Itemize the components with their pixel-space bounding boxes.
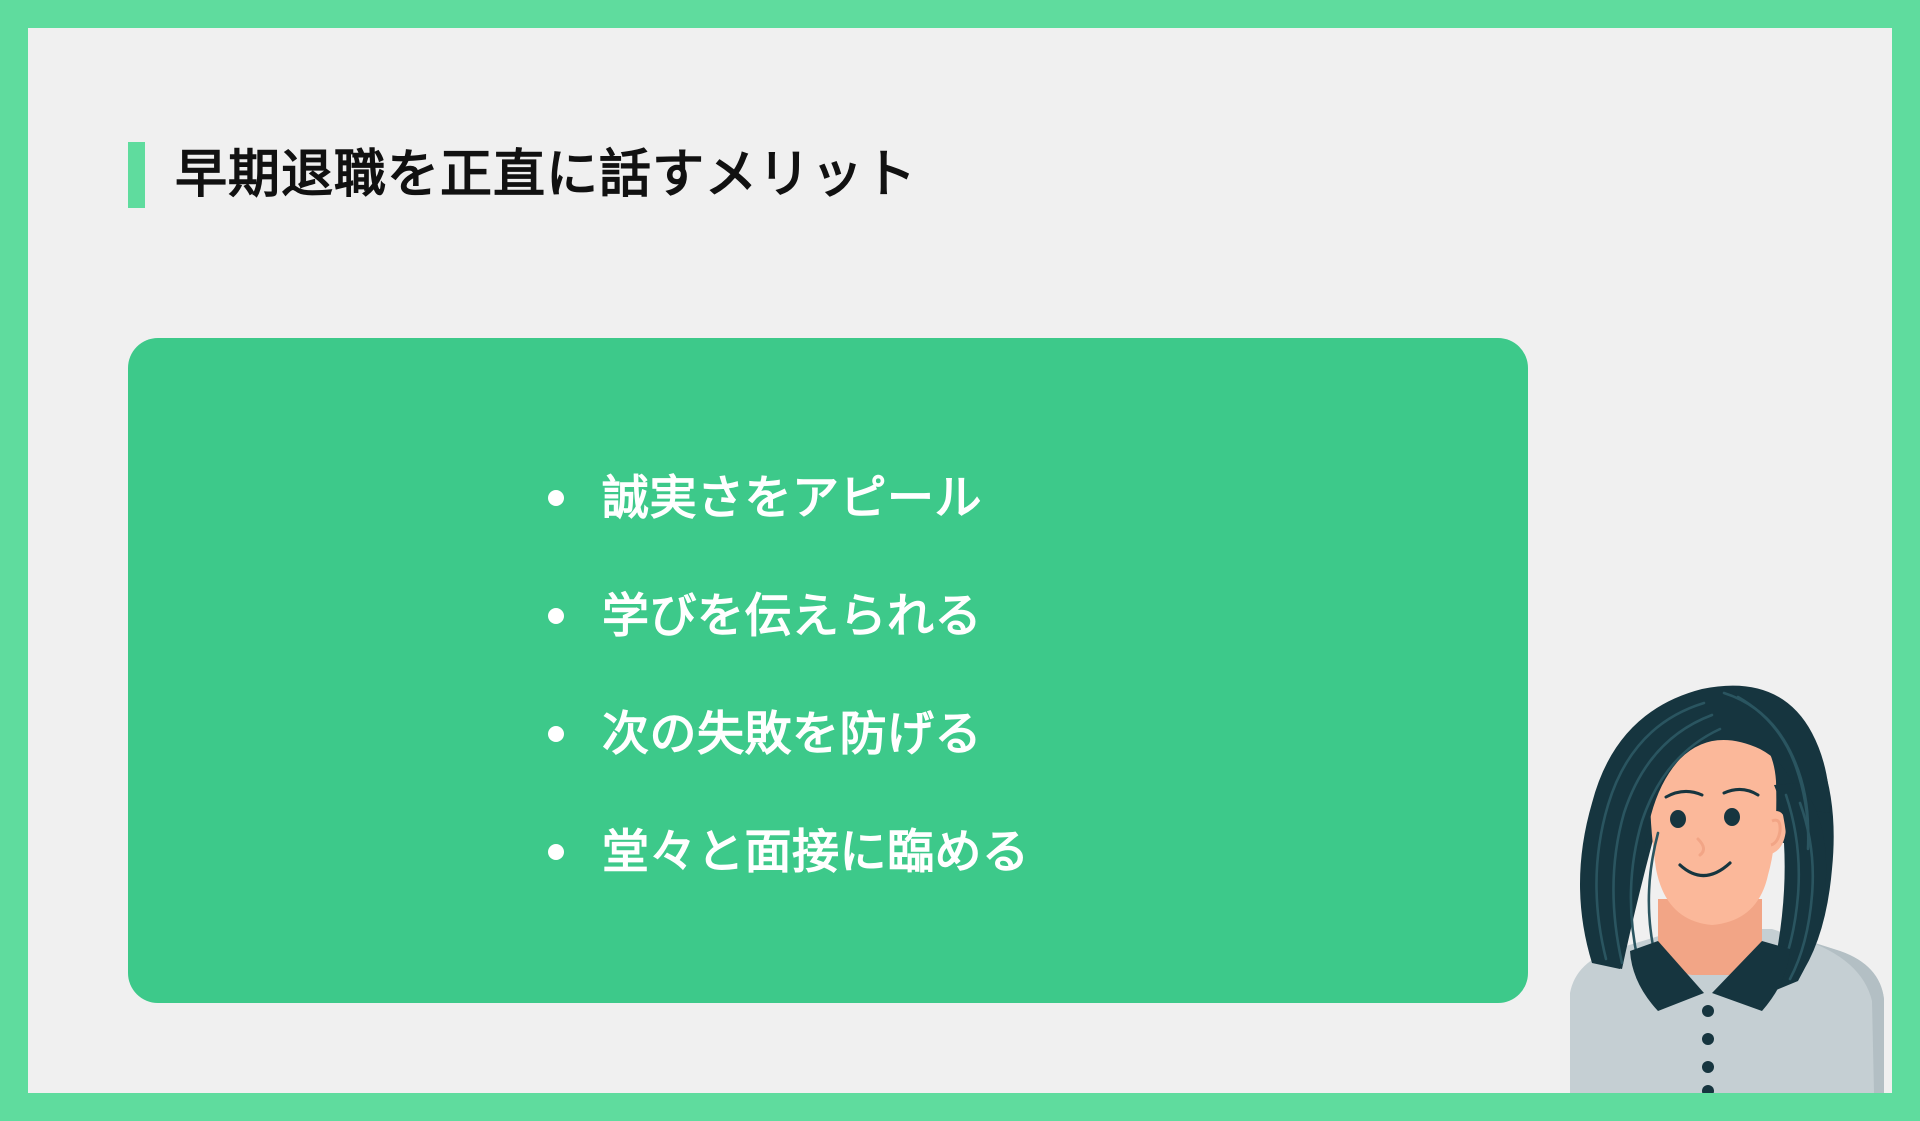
woman-illustration-svg <box>1562 663 1892 1093</box>
title-accent-bar <box>128 142 145 208</box>
bullet-dot-icon <box>548 490 564 506</box>
benefits-list: 誠実さをアピール 学びを伝えられる 次の失敗を防げる 堂々と面接に臨める <box>128 338 1528 1003</box>
list-item-label: 堂々と面接に臨める <box>602 826 1030 878</box>
slide-root: 早期退職を正直に話すメリット 誠実さをアピール 学びを伝えられる 次の失敗を防げ… <box>0 0 1920 1121</box>
list-item-label: 次の失敗を防げる <box>602 708 982 760</box>
bullet-dot-icon <box>548 844 564 860</box>
list-item-label: 誠実さをアピール <box>602 472 982 524</box>
woman-illustration <box>1562 663 1892 1093</box>
eye-left <box>1670 810 1686 828</box>
bullet-dot-icon <box>548 608 564 624</box>
eye-right <box>1724 808 1740 826</box>
page-title: 早期退職を正直に話すメリット <box>128 142 917 208</box>
ear-shape <box>1766 811 1786 855</box>
bullet-dot-icon <box>548 726 564 742</box>
list-item: 堂々と面接に臨める <box>548 793 1108 911</box>
list-item: 誠実さをアピール <box>548 439 1108 557</box>
list-item: 学びを伝えられる <box>548 557 1108 675</box>
list-item-label: 学びを伝えられる <box>602 590 982 642</box>
shirt-button <box>1702 1033 1714 1045</box>
benefits-card: 誠実さをアピール 学びを伝えられる 次の失敗を防げる 堂々と面接に臨める <box>128 338 1528 1003</box>
shirt-button <box>1702 1061 1714 1073</box>
shirt-button <box>1702 1005 1714 1017</box>
title-text: 早期退職を正直に話すメリット <box>175 149 917 201</box>
list-item: 次の失敗を防げる <box>548 675 1108 793</box>
